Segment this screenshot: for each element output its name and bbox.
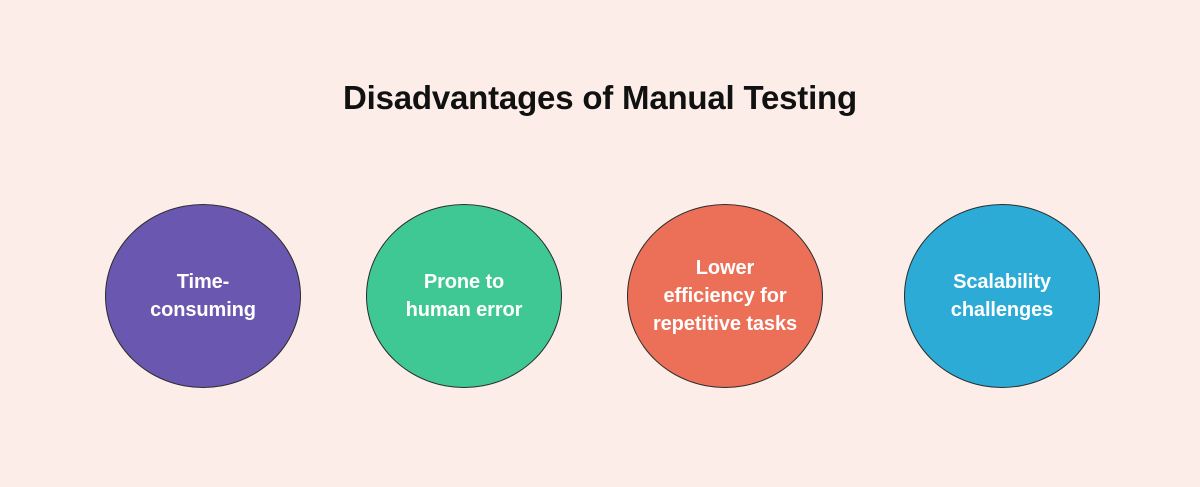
page-title: Disadvantages of Manual Testing xyxy=(0,78,1200,118)
circle-item-time-consuming: Time- consuming xyxy=(105,204,301,388)
infographic-canvas: Disadvantages of Manual Testing Time- co… xyxy=(0,0,1200,487)
circle-group: Time- consuming Prone to human error Low… xyxy=(0,204,1200,388)
circle-item-prone-to-human-error: Prone to human error xyxy=(366,204,562,388)
circle-label: Scalability challenges xyxy=(905,268,1099,324)
circle-label: Prone to human error xyxy=(367,268,561,324)
circle-label: Lower efficiency for repetitive tasks xyxy=(628,254,822,338)
circle-item-lower-efficiency: Lower efficiency for repetitive tasks xyxy=(627,204,823,388)
circle-label: Time- consuming xyxy=(106,268,300,324)
circle-item-scalability-challenges: Scalability challenges xyxy=(904,204,1100,388)
